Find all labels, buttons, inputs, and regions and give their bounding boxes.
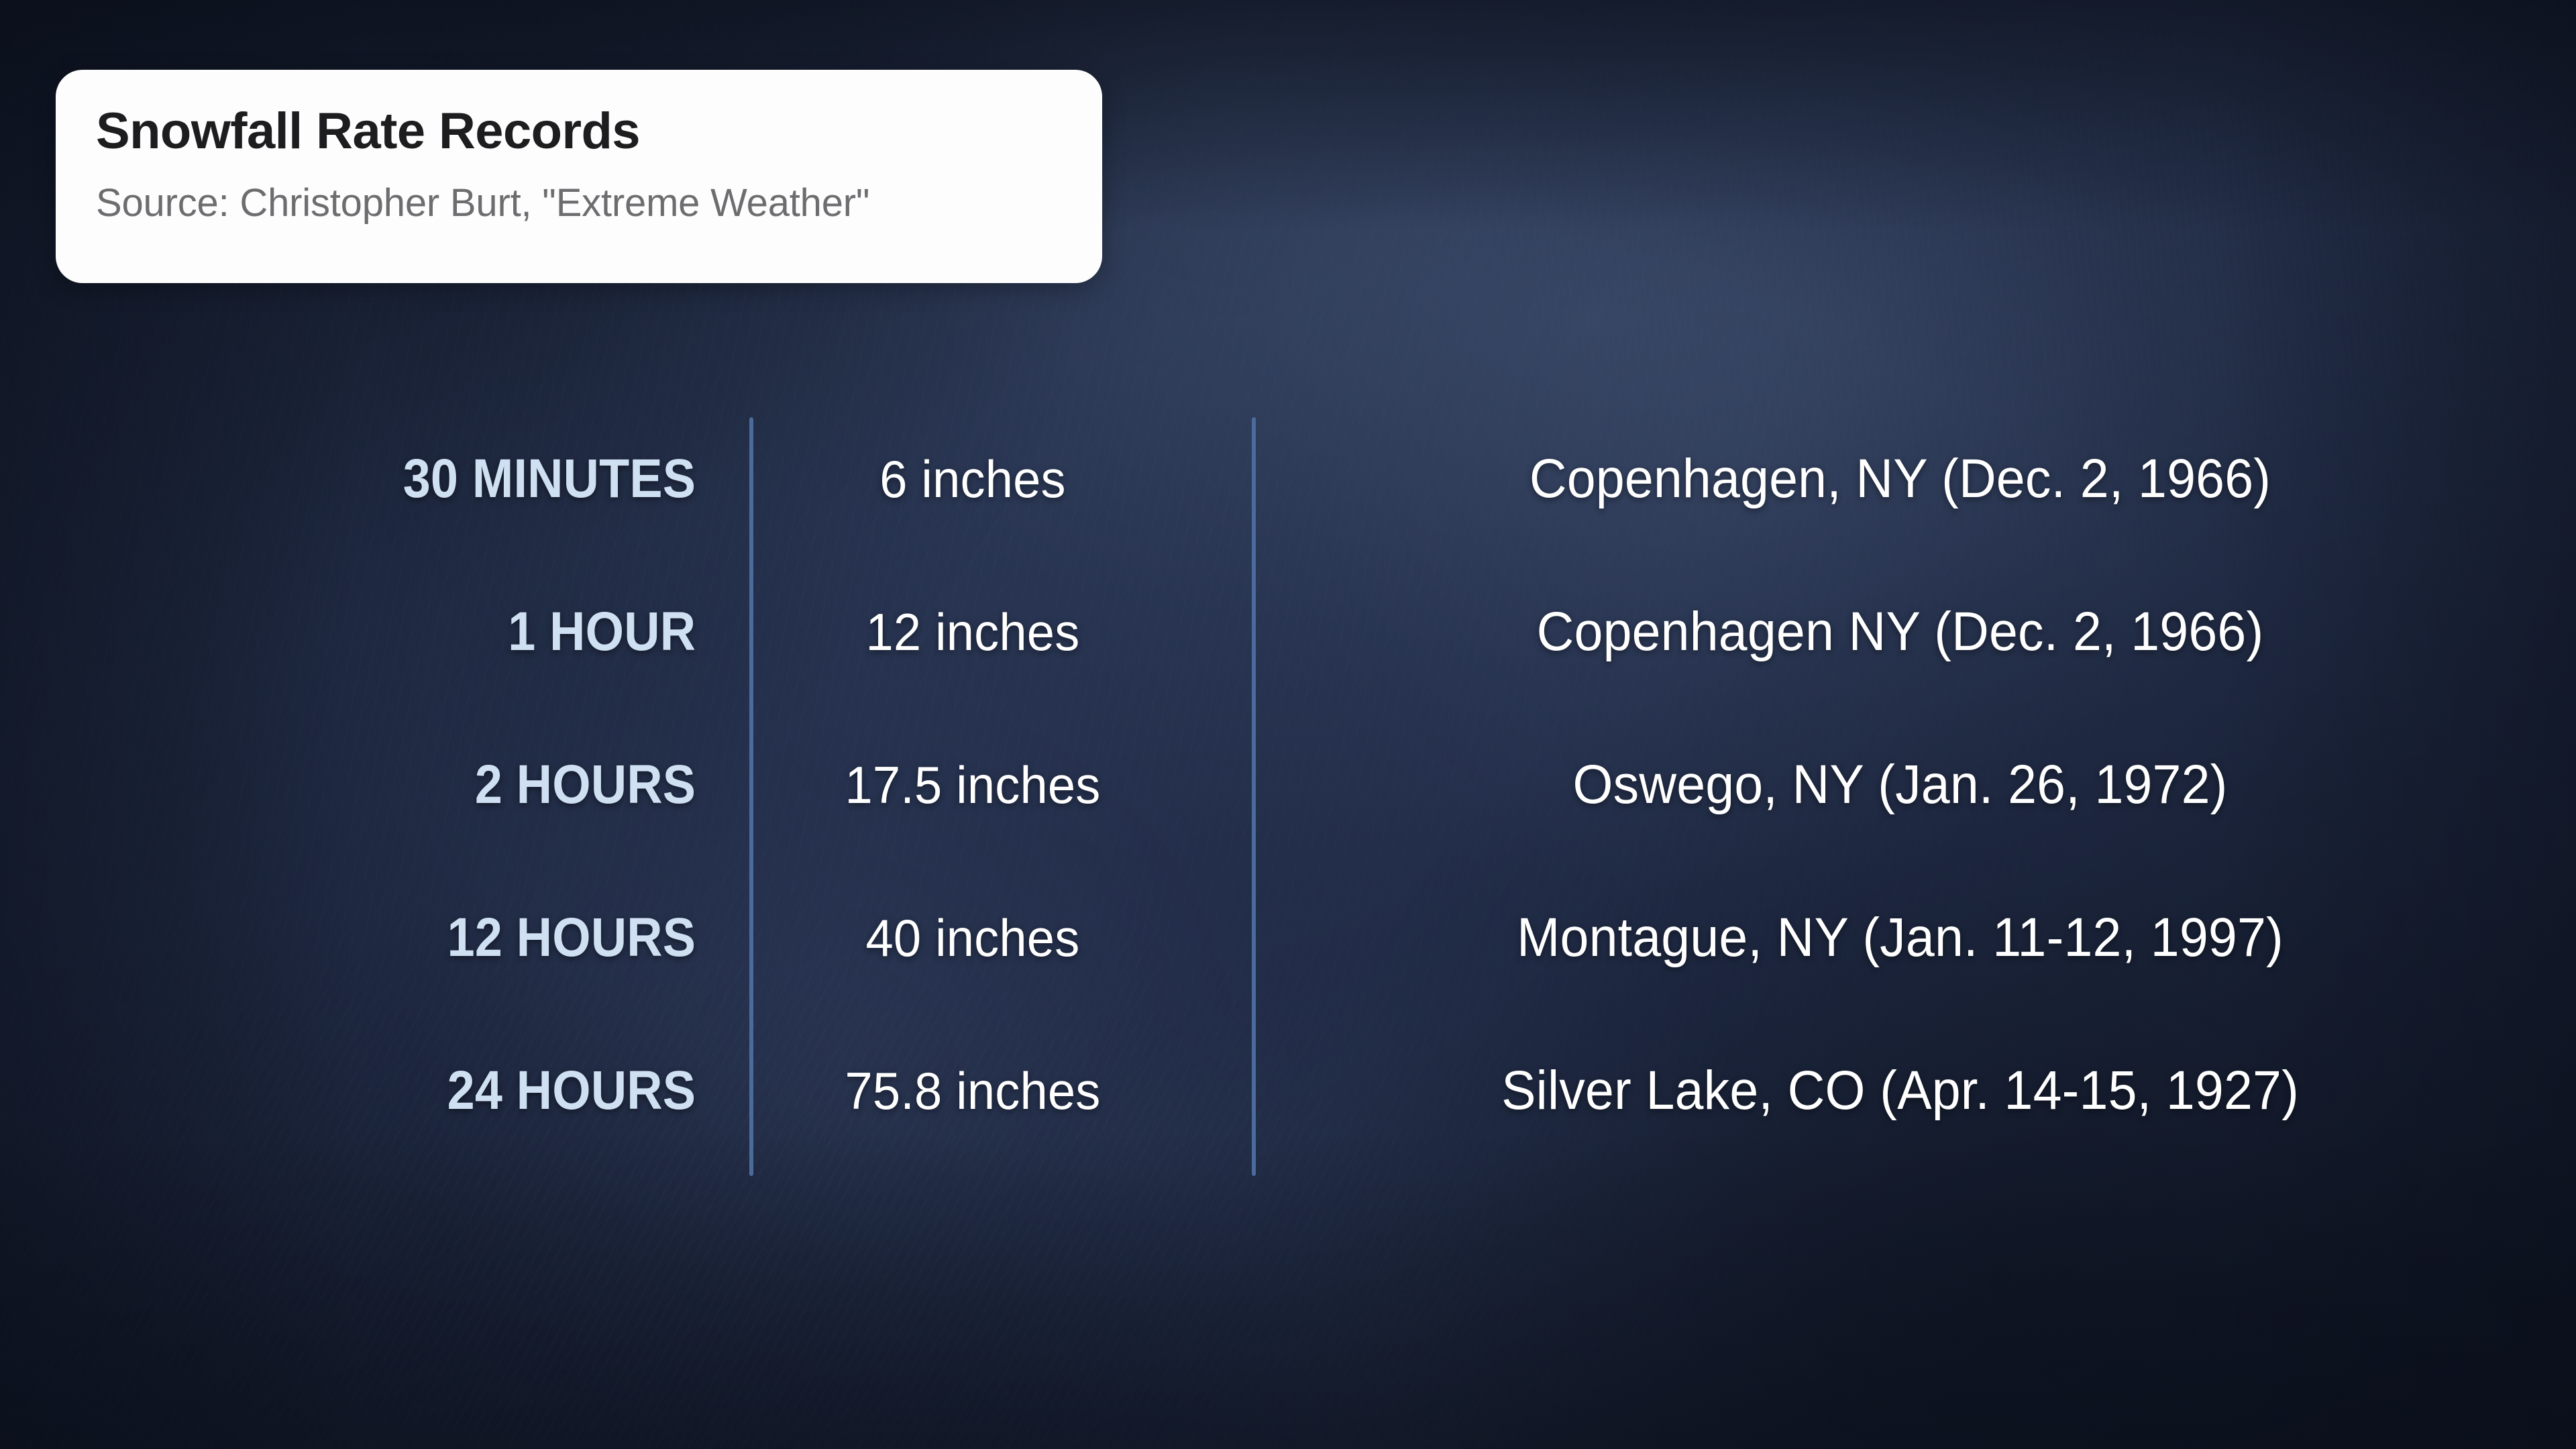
row-location: Copenhagen, NY (Dec. 2, 1966) [1265,447,2535,511]
snowfall-records-graphic: Snowfall Rate Records Source: Christophe… [0,0,2576,1449]
row-location: Oswego, NY (Jan. 26, 1972) [1265,753,2535,816]
row-period: 2 HOURS [72,753,722,816]
source-attribution: Source: Christopher Burt, "Extreme Weath… [96,182,1062,225]
row-amount: 75.8 inches [734,1061,1212,1122]
table-row: 24 HOURS 75.8 inches Silver Lake, CO (Ap… [0,1014,2576,1167]
row-location: Silver Lake, CO (Apr. 14-15, 1927) [1265,1059,2535,1122]
row-amount: 12 inches [734,602,1212,663]
table-row: 1 HOUR 12 inches Copenhagen NY (Dec. 2, … [0,555,2576,708]
row-period: 24 HOURS [72,1059,722,1122]
row-amount: 17.5 inches [734,755,1212,816]
title-card: Snowfall Rate Records Source: Christophe… [56,70,1102,283]
table-row: 30 MINUTES 6 inches Copenhagen, NY (Dec.… [0,402,2576,555]
row-location: Copenhagen NY (Dec. 2, 1966) [1265,600,2535,663]
row-period: 30 MINUTES [72,447,722,511]
row-location: Montague, NY (Jan. 11-12, 1997) [1265,906,2535,969]
row-period: 1 HOUR [72,600,722,663]
row-amount: 6 inches [734,449,1212,510]
row-period: 12 HOURS [72,906,722,969]
records-table: 30 MINUTES 6 inches Copenhagen, NY (Dec.… [0,402,2576,1167]
page-title: Snowfall Rate Records [96,105,1062,159]
table-row: 2 HOURS 17.5 inches Oswego, NY (Jan. 26,… [0,708,2576,861]
row-amount: 40 inches [734,908,1212,969]
table-row: 12 HOURS 40 inches Montague, NY (Jan. 11… [0,861,2576,1014]
